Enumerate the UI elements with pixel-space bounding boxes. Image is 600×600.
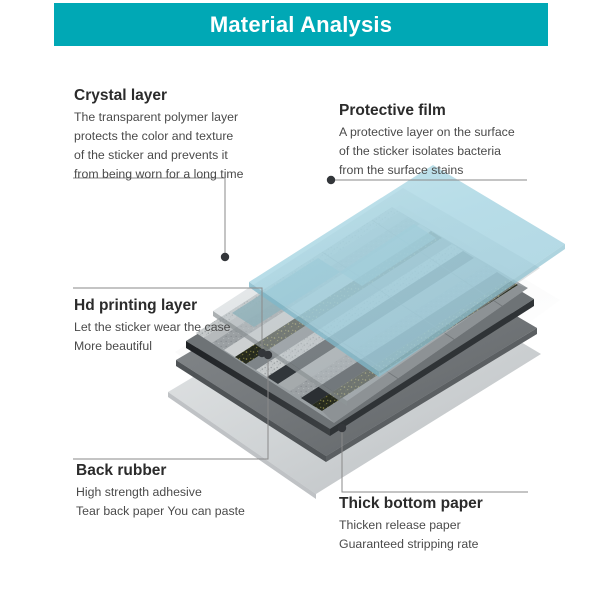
callout-protective-film: Protective film A protective layer on th… bbox=[339, 101, 515, 180]
callout-line: High strength adhesive bbox=[76, 483, 245, 502]
callout-line: of the sticker and prevents it bbox=[74, 146, 244, 165]
callout-line: Guaranteed stripping rate bbox=[339, 535, 483, 554]
callout-thick-bottom-paper: Thick bottom paper Thicken release paper… bbox=[339, 494, 483, 554]
callout-hd-printing-layer: Hd printing layer Let the sticker wear t… bbox=[74, 296, 231, 356]
callout-line: The transparent polymer layer bbox=[74, 108, 244, 127]
callout-title: Back rubber bbox=[76, 461, 245, 482]
callout-line: Tear back paper You can paste bbox=[76, 502, 245, 521]
callout-line: from the surface stains bbox=[339, 161, 515, 180]
callout-title: Thick bottom paper bbox=[339, 494, 483, 515]
callout-line: from being worn for a long time bbox=[74, 165, 244, 184]
callout-title: Crystal layer bbox=[74, 86, 244, 107]
callout-dot-crystal bbox=[221, 253, 229, 261]
callout-dot-back-rubber bbox=[264, 351, 272, 359]
leader-line-crystal bbox=[73, 178, 225, 256]
callout-line: A protective layer on the surface bbox=[339, 123, 515, 142]
callout-title: Hd printing layer bbox=[74, 296, 231, 317]
callout-line: Let the sticker wear the case bbox=[74, 318, 231, 337]
callout-title: Protective film bbox=[339, 101, 515, 122]
callout-line: Thicken release paper bbox=[339, 516, 483, 535]
callout-dot-thick-paper bbox=[338, 424, 346, 432]
callout-back-rubber: Back rubber High strength adhesive Tear … bbox=[76, 461, 245, 521]
callout-line: protects the color and texture bbox=[74, 127, 244, 146]
callout-line: More beautiful bbox=[74, 337, 231, 356]
callout-line: of the sticker isolates bacteria bbox=[339, 142, 515, 161]
callout-crystal-layer: Crystal layer The transparent polymer la… bbox=[74, 86, 244, 184]
infographic-page: Material Analysis bbox=[0, 0, 600, 600]
callout-dot-protective bbox=[327, 176, 335, 184]
